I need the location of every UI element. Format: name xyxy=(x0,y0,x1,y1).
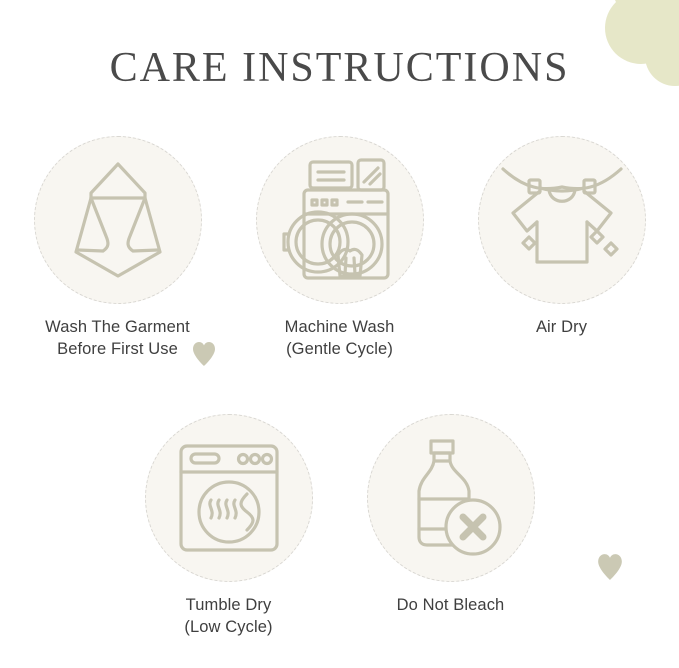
care-item-air-dry[interactable]: Air Dry xyxy=(451,136,673,361)
care-item-label: Wash The Garment Before First Use xyxy=(45,317,190,361)
care-item-label: Air Dry xyxy=(536,317,587,339)
page-title: CARE INSTRUCTIONS xyxy=(0,44,679,92)
folded-garment-icon xyxy=(66,158,170,282)
care-row-top: Wash The Garment Before First Use xyxy=(0,136,679,361)
care-item-label: Tumble Dry (Low Cycle) xyxy=(184,595,272,639)
care-item-label: Machine Wash (Gentle Cycle) xyxy=(285,317,395,361)
care-item-label: Do Not Bleach xyxy=(397,595,505,617)
icon-circle xyxy=(145,414,313,582)
page-header: CARE INSTRUCTIONS xyxy=(0,44,679,92)
icon-circle xyxy=(478,136,646,304)
tumble-dryer-heat-icon xyxy=(177,442,281,554)
care-item-do-not-bleach[interactable]: Do Not Bleach xyxy=(340,414,562,639)
icon-circle xyxy=(34,136,202,304)
icon-circle xyxy=(367,414,535,582)
washing-machine-icon xyxy=(282,156,398,284)
care-item-tumble-dry[interactable]: Tumble Dry (Low Cycle) xyxy=(118,414,340,639)
care-item-wash-garment[interactable]: Wash The Garment Before First Use xyxy=(7,136,229,361)
care-item-machine-wash[interactable]: Machine Wash (Gentle Cycle) xyxy=(229,136,451,361)
icon-circle xyxy=(256,136,424,304)
bleach-bottle-crossed-icon xyxy=(399,437,503,559)
clothesline-tshirt-icon xyxy=(499,161,625,279)
care-row-bottom: Tumble Dry (Low Cycle) xyxy=(0,414,679,639)
